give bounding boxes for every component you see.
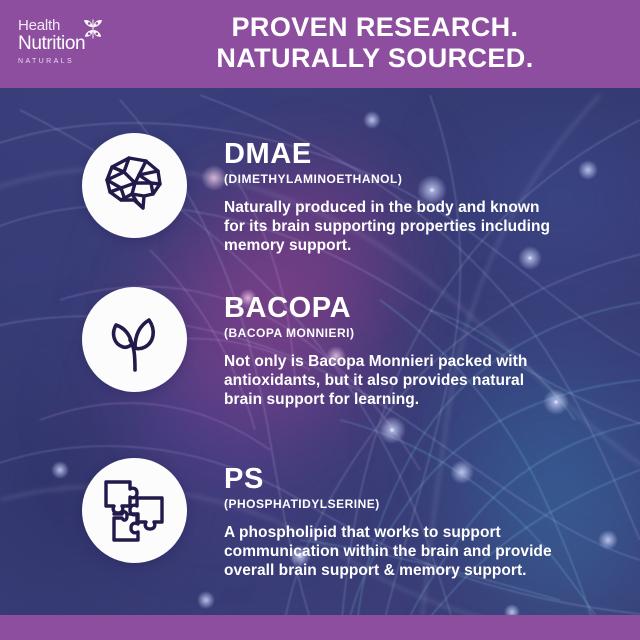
ingredient-title: PS bbox=[224, 464, 624, 495]
ingredient-icon-badge bbox=[82, 133, 187, 238]
brand-logo[interactable]: Health Nutrition NATURALS bbox=[18, 18, 110, 66]
ingredient-title: DMAE bbox=[224, 139, 624, 170]
ingredient-text-block: BACOPA (BACOPA MONNIERI) Not only is Bac… bbox=[224, 293, 624, 409]
ingredient-description: A phospholipid that works to support com… bbox=[224, 523, 606, 580]
headline-line-1: PROVEN RESEARCH. bbox=[232, 12, 519, 42]
ingredient-subtitle: (BACOPA MONNIERI) bbox=[224, 326, 624, 341]
description-line: overall brain support & memory support. bbox=[224, 561, 606, 580]
ingredient-icon-badge bbox=[82, 458, 187, 563]
logo-line-naturals: NATURALS bbox=[18, 57, 110, 66]
ingredient-icon-badge bbox=[82, 287, 187, 392]
ingredient-text-block: DMAE (DIMETHYLAMINOETHANOL) Naturally pr… bbox=[224, 139, 624, 255]
ingredient-subtitle: (DIMETHYLAMINOETHANOL) bbox=[224, 172, 624, 187]
description-line: A phospholipid that works to support bbox=[224, 523, 606, 542]
description-line: communication within the brain and provi… bbox=[224, 542, 606, 561]
headline-line-2: NATURALLY SOURCED. bbox=[120, 43, 630, 74]
description-line: for its brain supporting properties incl… bbox=[224, 217, 606, 236]
leaf-butterfly-icon bbox=[80, 16, 106, 42]
ingredient-text-block: PS (PHOSPHATIDYLSERINE) A phospholipid t… bbox=[224, 464, 624, 580]
brain-icon bbox=[99, 150, 171, 222]
puzzle-pieces-icon bbox=[100, 476, 170, 546]
ingredient-description: Naturally produced in the body and known… bbox=[224, 198, 606, 255]
page-title: PROVEN RESEARCH. NATURALLY SOURCED. bbox=[120, 12, 630, 74]
ingredient-title: BACOPA bbox=[224, 293, 624, 324]
description-line: Naturally produced in the body and known bbox=[224, 198, 606, 217]
ingredient-description: Not only is Bacopa Monnieri packed with … bbox=[224, 352, 606, 409]
infographic-canvas: Health Nutrition NATURALS PROVEN RESEARC… bbox=[0, 0, 640, 640]
description-line: Not only is Bacopa Monnieri packed with bbox=[224, 352, 606, 371]
footer-bar bbox=[0, 615, 640, 640]
header-bar: Health Nutrition NATURALS PROVEN RESEARC… bbox=[0, 0, 640, 88]
ingredient-subtitle: (PHOSPHATIDYLSERINE) bbox=[224, 497, 624, 512]
description-line: antioxidants, but it also provides natur… bbox=[224, 371, 606, 390]
description-line: memory support. bbox=[224, 236, 606, 255]
plant-sprout-icon bbox=[99, 304, 171, 376]
description-line: brain support for learning. bbox=[224, 390, 606, 409]
